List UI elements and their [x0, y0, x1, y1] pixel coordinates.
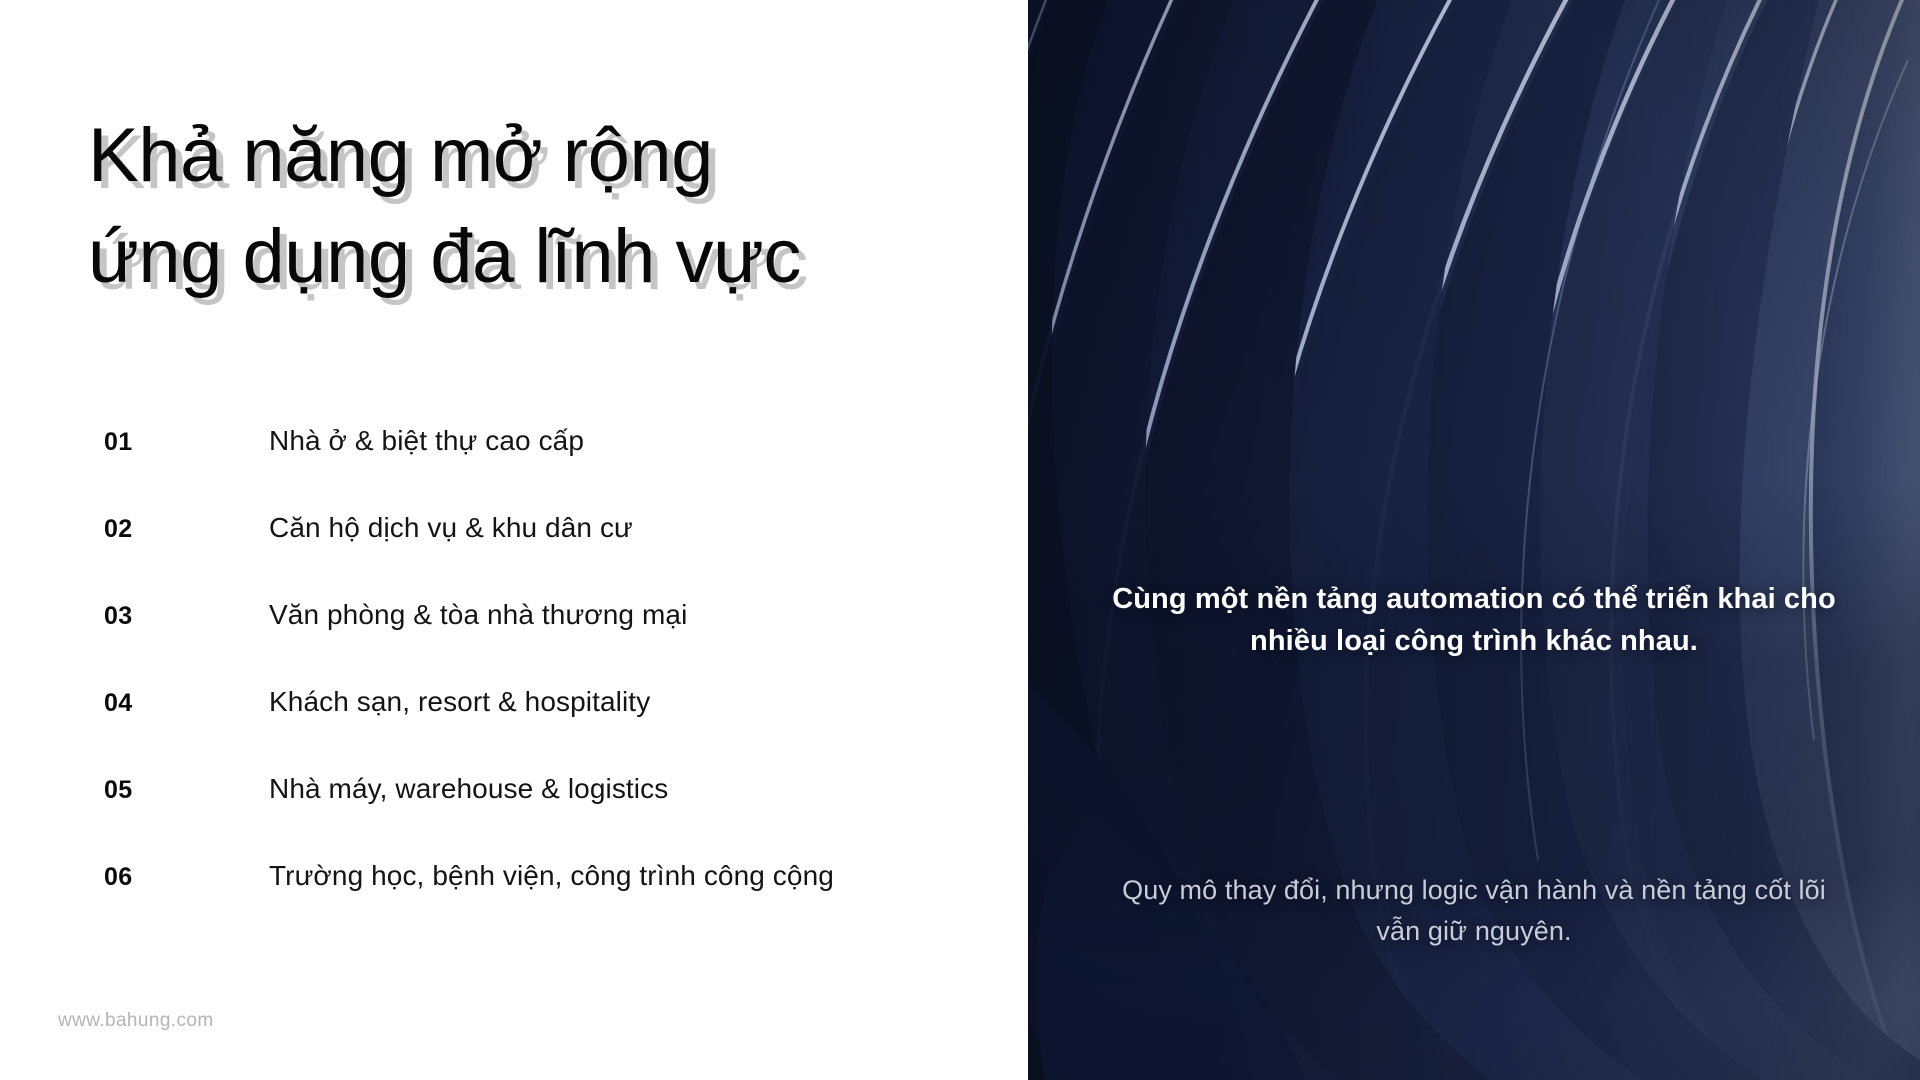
list-item-label: Khách sạn, resort & hospitality — [269, 686, 650, 718]
list-item: 06 Trường học, bệnh viện, công trình côn… — [104, 860, 1004, 947]
list-item-number: 03 — [104, 602, 269, 631]
list-item-label: Văn phòng & tòa nhà thương mại — [269, 599, 687, 631]
left-content-panel: Khả năng mở rộng ứng dụng đa lĩnh vực 01… — [0, 0, 1028, 1080]
page-title: Khả năng mở rộng ứng dụng đa lĩnh vực — [88, 105, 988, 307]
page-title-line-2: ứng dụng đa lĩnh vực — [88, 206, 988, 307]
slide-root: Khả năng mở rộng ứng dụng đa lĩnh vực 01… — [0, 0, 1920, 1080]
list-item-label: Căn hộ dịch vụ & khu dân cư — [269, 512, 633, 544]
numbered-list: 01 Nhà ở & biệt thự cao cấp 02 Căn hộ dị… — [104, 425, 1004, 947]
list-item-number: 04 — [104, 689, 269, 718]
list-item: 04 Khách sạn, resort & hospitality — [104, 686, 1004, 773]
list-item-label: Nhà ở & biệt thự cao cấp — [269, 425, 584, 457]
right-visual-panel: Cùng một nền tảng automation có thể triể… — [1028, 0, 1920, 1080]
list-item: 05 Nhà máy, warehouse & logistics — [104, 773, 1004, 860]
list-item-number: 01 — [104, 428, 269, 457]
list-item: 02 Căn hộ dịch vụ & khu dân cư — [104, 512, 1004, 599]
footer-website-url: www.bahung.com — [58, 1010, 214, 1032]
list-item: 03 Văn phòng & tòa nhà thương mại — [104, 599, 1004, 686]
list-item-number: 05 — [104, 776, 269, 805]
list-item: 01 Nhà ở & biệt thự cao cấp — [104, 425, 1004, 512]
list-item-number: 06 — [104, 863, 269, 892]
list-item-number: 02 — [104, 515, 269, 544]
page-title-line-1: Khả năng mở rộng — [88, 105, 988, 206]
list-item-label: Trường học, bệnh viện, công trình công c… — [269, 860, 834, 892]
list-item-label: Nhà máy, warehouse & logistics — [269, 773, 668, 805]
abstract-navy-blade-swirl-artwork — [1028, 0, 1920, 1080]
